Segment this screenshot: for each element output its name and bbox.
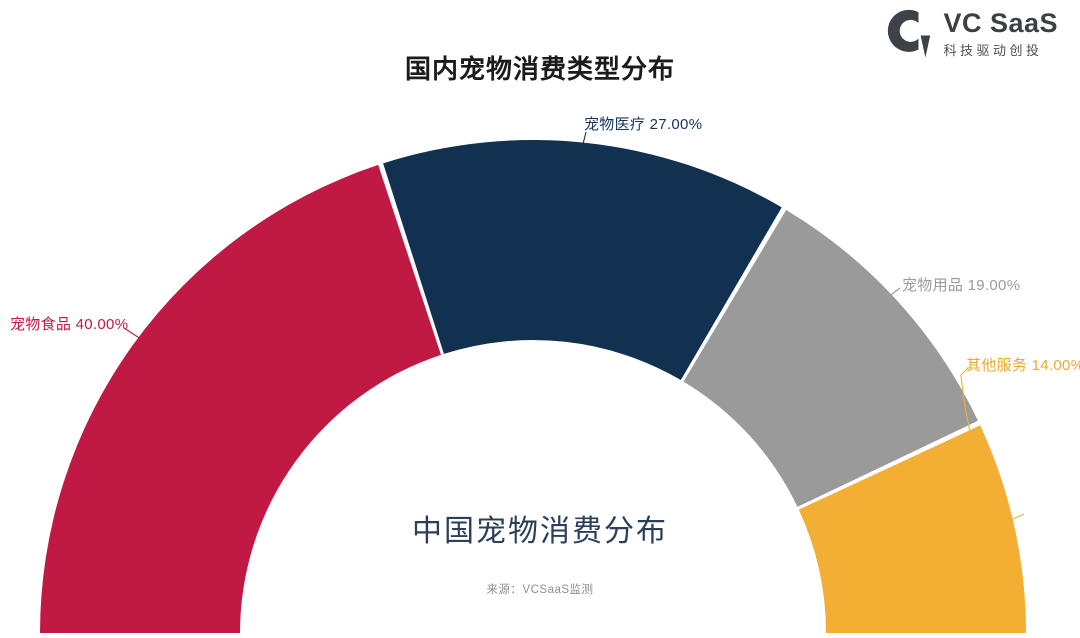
slice-label-other-services: 其他服务 14.00% bbox=[966, 354, 1080, 375]
donut-slice bbox=[40, 165, 441, 633]
slice-label-pet-food: 宠物食品 40.00% bbox=[10, 313, 128, 334]
slice-label-pet-supplies: 宠物用品 19.00% bbox=[902, 274, 1020, 295]
donut-slices bbox=[40, 140, 1026, 633]
donut-center-label: 中国宠物消费分布 bbox=[0, 506, 1080, 550]
slice-label-pet-medical: 宠物医疗 27.00% bbox=[584, 113, 702, 134]
source-note: 来源：VCSaaS监测 bbox=[0, 581, 1080, 597]
